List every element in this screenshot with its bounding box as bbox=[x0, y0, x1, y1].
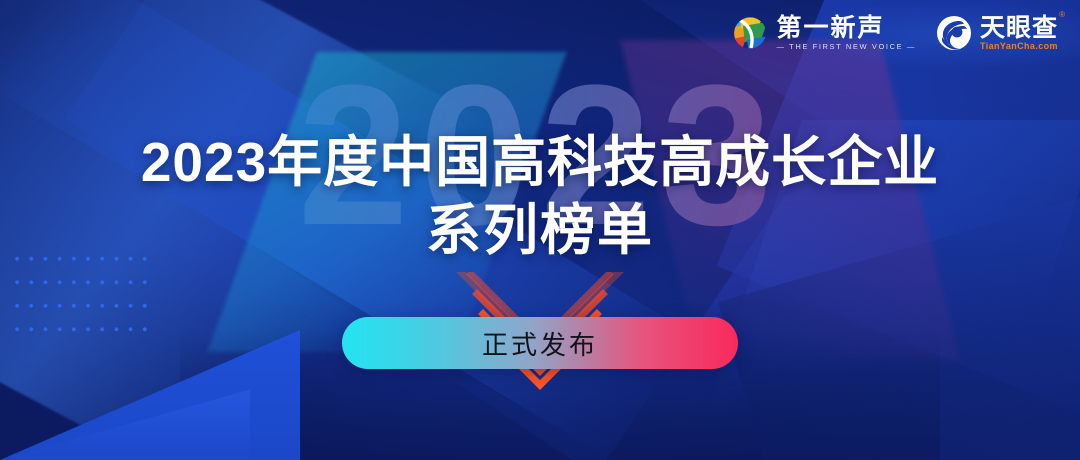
tianyancha-domain: TianYanCha.com bbox=[980, 42, 1058, 51]
headline-line-1: 2023年度中国高科技高成长企业 bbox=[0, 128, 1080, 196]
first-new-voice-text: 第一新声 — THE FIRST NEW VOICE — bbox=[777, 16, 916, 51]
headline-block: 2023年度中国高科技高成长企业 系列榜单 bbox=[0, 128, 1080, 264]
first-new-voice-mark-icon bbox=[731, 14, 769, 52]
bg-triangle-bottom-left-highlight bbox=[0, 380, 250, 460]
bg-triangle-bottom-left bbox=[0, 330, 300, 460]
logo-first-new-voice[interactable]: 第一新声 — THE FIRST NEW VOICE — bbox=[731, 14, 916, 52]
release-pill-button[interactable]: 正式发布 bbox=[342, 317, 738, 369]
tianyancha-text: 天眼查 TianYanCha.com ® bbox=[980, 16, 1058, 51]
release-pill-label: 正式发布 bbox=[482, 325, 598, 362]
headline-line-2: 系列榜单 bbox=[0, 196, 1080, 264]
registered-trademark-icon: ® bbox=[1059, 11, 1065, 19]
logo-tianyancha[interactable]: 天眼查 TianYanCha.com ® bbox=[936, 15, 1058, 51]
first-new-voice-tagline: — THE FIRST NEW VOICE — bbox=[777, 43, 916, 51]
tianyancha-mark-icon bbox=[936, 15, 972, 51]
logo-bar: 第一新声 — THE FIRST NEW VOICE — 天眼查 TianYan… bbox=[731, 14, 1058, 52]
first-new-voice-name-cn: 第一新声 bbox=[777, 16, 916, 41]
promo-banner: 2023 2023年度中国高科技高成长企业 系列榜单 正式发布 bbox=[0, 0, 1080, 460]
tianyancha-name-cn: 天眼查 bbox=[980, 16, 1058, 41]
